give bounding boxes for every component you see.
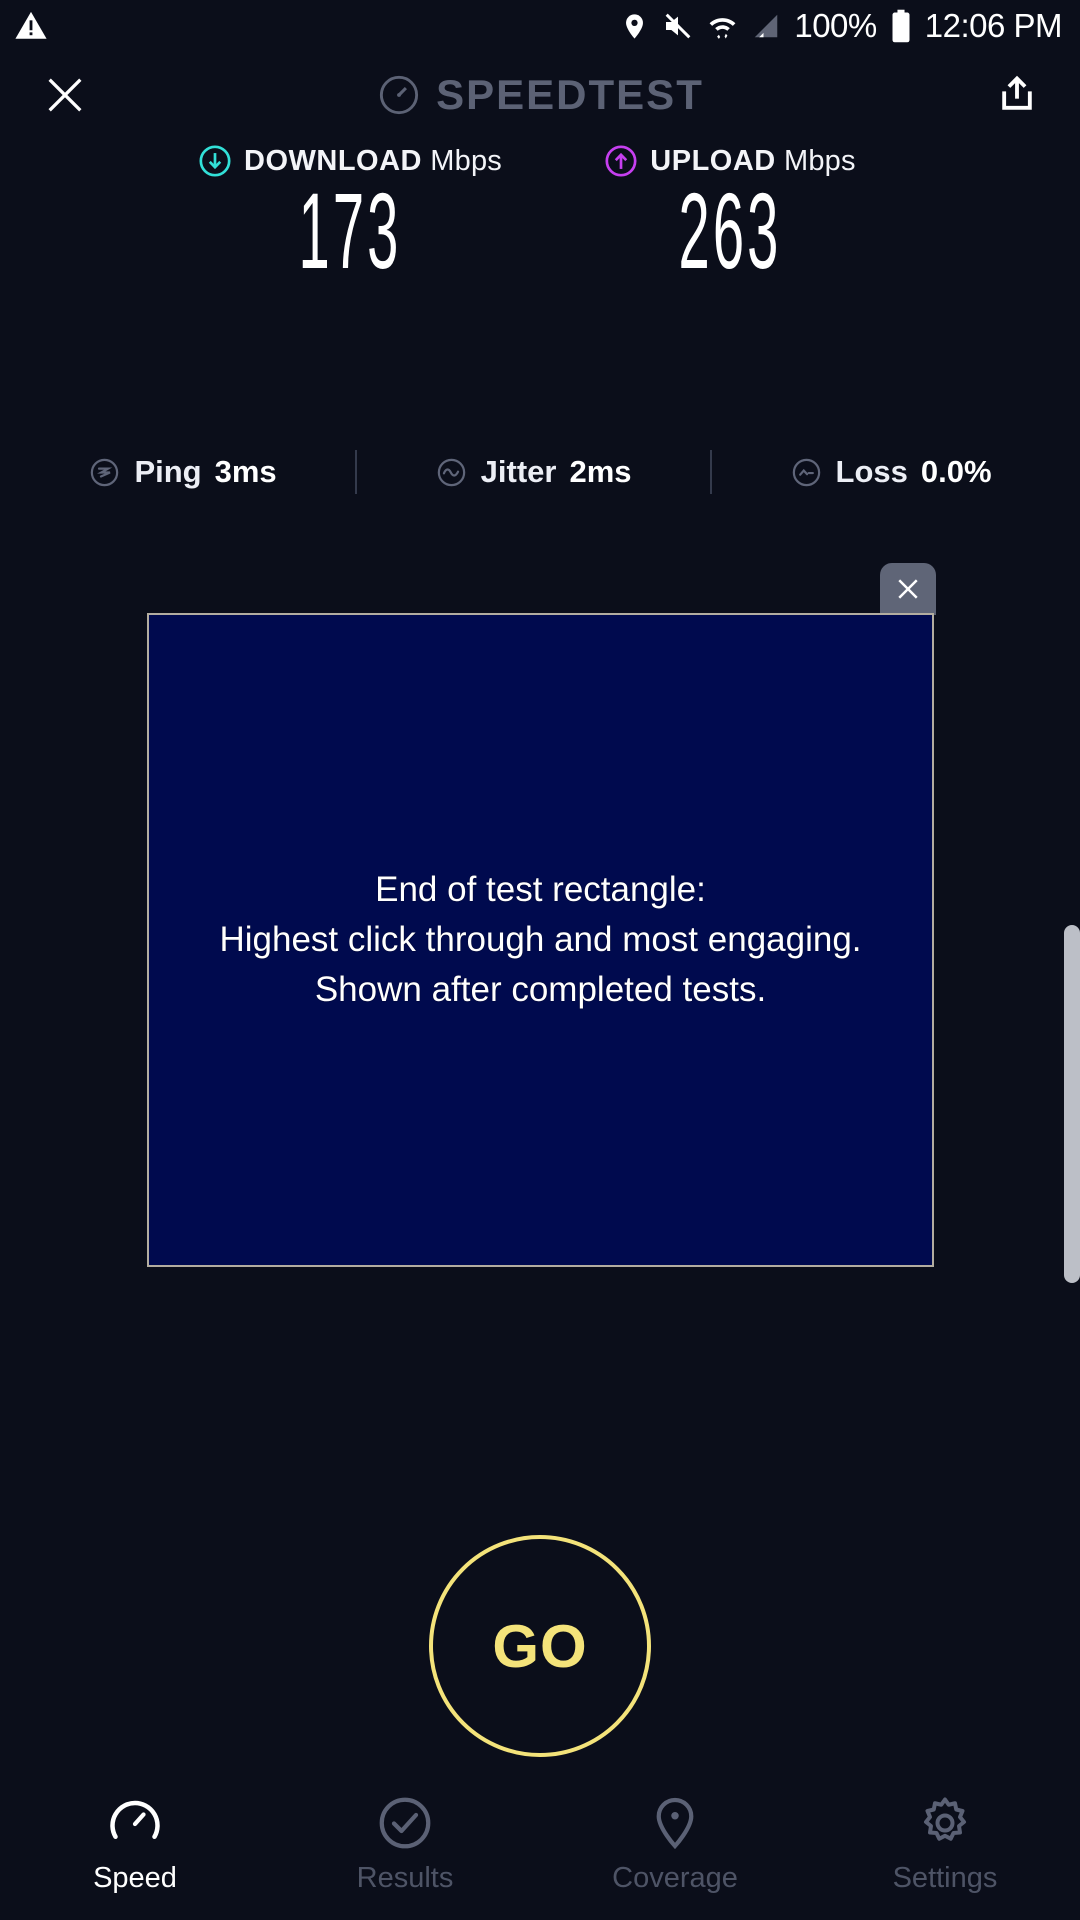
battery-percent: 100% [794, 7, 876, 45]
close-icon [42, 72, 88, 118]
status-bar-left [14, 9, 48, 43]
stat-ping: Ping 3ms [88, 454, 276, 490]
test-results: DOWNLOAD Mbps 173 UPLOAD Mbps 263 [0, 140, 1080, 286]
status-bar: 100% 12:06 PM [0, 0, 1080, 52]
go-button-label: GO [492, 1612, 587, 1681]
advertisement[interactable]: End of test rectangle: Highest click thr… [147, 613, 934, 1267]
bottom-navigation: Speed Results Coverage Settings [0, 1780, 1080, 1920]
warning-triangle-icon [14, 9, 48, 43]
stat-loss-value: 0.0% [921, 454, 992, 490]
share-icon [995, 73, 1039, 117]
stats-divider-1 [355, 450, 357, 494]
speedometer-icon [376, 72, 422, 118]
download-arrow-icon [198, 144, 232, 178]
status-bar-clock: 12:06 PM [925, 7, 1062, 45]
ad-line-3: Shown after completed tests. [219, 965, 861, 1015]
speedometer-icon [105, 1792, 165, 1854]
speedtest-app: 100% 12:06 PM SPEEDTEST [0, 0, 1080, 1920]
share-button[interactable] [986, 64, 1048, 126]
nav-item-coverage[interactable]: Coverage [540, 1780, 810, 1895]
location-pin-icon [620, 12, 649, 41]
nav-label-settings: Settings [893, 1862, 998, 1895]
status-bar-right: 100% 12:06 PM [620, 7, 1062, 45]
wifi-icon [707, 11, 738, 42]
app-header: SPEEDTEST [0, 52, 1080, 137]
stat-jitter-label: Jitter [481, 454, 557, 490]
ad-line-1: End of test rectangle: [219, 865, 861, 915]
upload-value: 263 [631, 176, 829, 286]
location-pin-icon [645, 1792, 705, 1854]
download-value: 173 [251, 176, 449, 286]
go-button[interactable]: GO [429, 1535, 651, 1757]
stat-jitter: Jitter 2ms [435, 454, 632, 490]
stat-loss: Loss 0.0% [790, 454, 992, 490]
jitter-icon [435, 456, 468, 489]
stats-divider-2 [710, 450, 712, 494]
ad-close-button[interactable] [880, 563, 936, 615]
nav-label-coverage: Coverage [612, 1862, 738, 1895]
upload-arrow-icon [604, 144, 638, 178]
volume-mute-icon [662, 10, 694, 42]
ad-rectangle[interactable]: End of test rectangle: Highest click thr… [147, 613, 934, 1267]
vertical-scrollbar[interactable] [1064, 925, 1080, 1283]
nav-item-speed[interactable]: Speed [0, 1780, 270, 1895]
gear-icon [915, 1792, 975, 1854]
ad-line-2: Highest click through and most engaging. [219, 915, 861, 965]
ad-text: End of test rectangle: Highest click thr… [209, 865, 871, 1014]
loss-icon [790, 456, 823, 489]
stat-loss-label: Loss [836, 454, 908, 490]
nav-label-speed: Speed [93, 1862, 177, 1895]
page-title: SPEEDTEST [436, 71, 704, 119]
connection-stats-row: Ping 3ms Jitter 2ms Loss 0.0 [0, 450, 1080, 494]
stat-jitter-value: 2ms [569, 454, 631, 490]
nav-item-results[interactable]: Results [270, 1780, 540, 1895]
download-metric: DOWNLOAD Mbps 173 [160, 140, 540, 286]
check-circle-icon [375, 1792, 435, 1854]
close-button[interactable] [34, 64, 96, 126]
stat-ping-label: Ping [134, 454, 201, 490]
battery-full-icon [890, 9, 912, 43]
stat-ping-value: 3ms [215, 454, 277, 490]
brand: SPEEDTEST [376, 71, 704, 119]
ping-icon [88, 456, 121, 489]
nav-item-settings[interactable]: Settings [810, 1780, 1080, 1895]
cell-signal-icon [751, 11, 781, 41]
upload-metric: UPLOAD Mbps 263 [540, 140, 920, 286]
nav-label-results: Results [357, 1862, 454, 1895]
close-icon [893, 574, 923, 604]
speed-metrics-row: DOWNLOAD Mbps 173 UPLOAD Mbps 263 [0, 140, 1080, 286]
